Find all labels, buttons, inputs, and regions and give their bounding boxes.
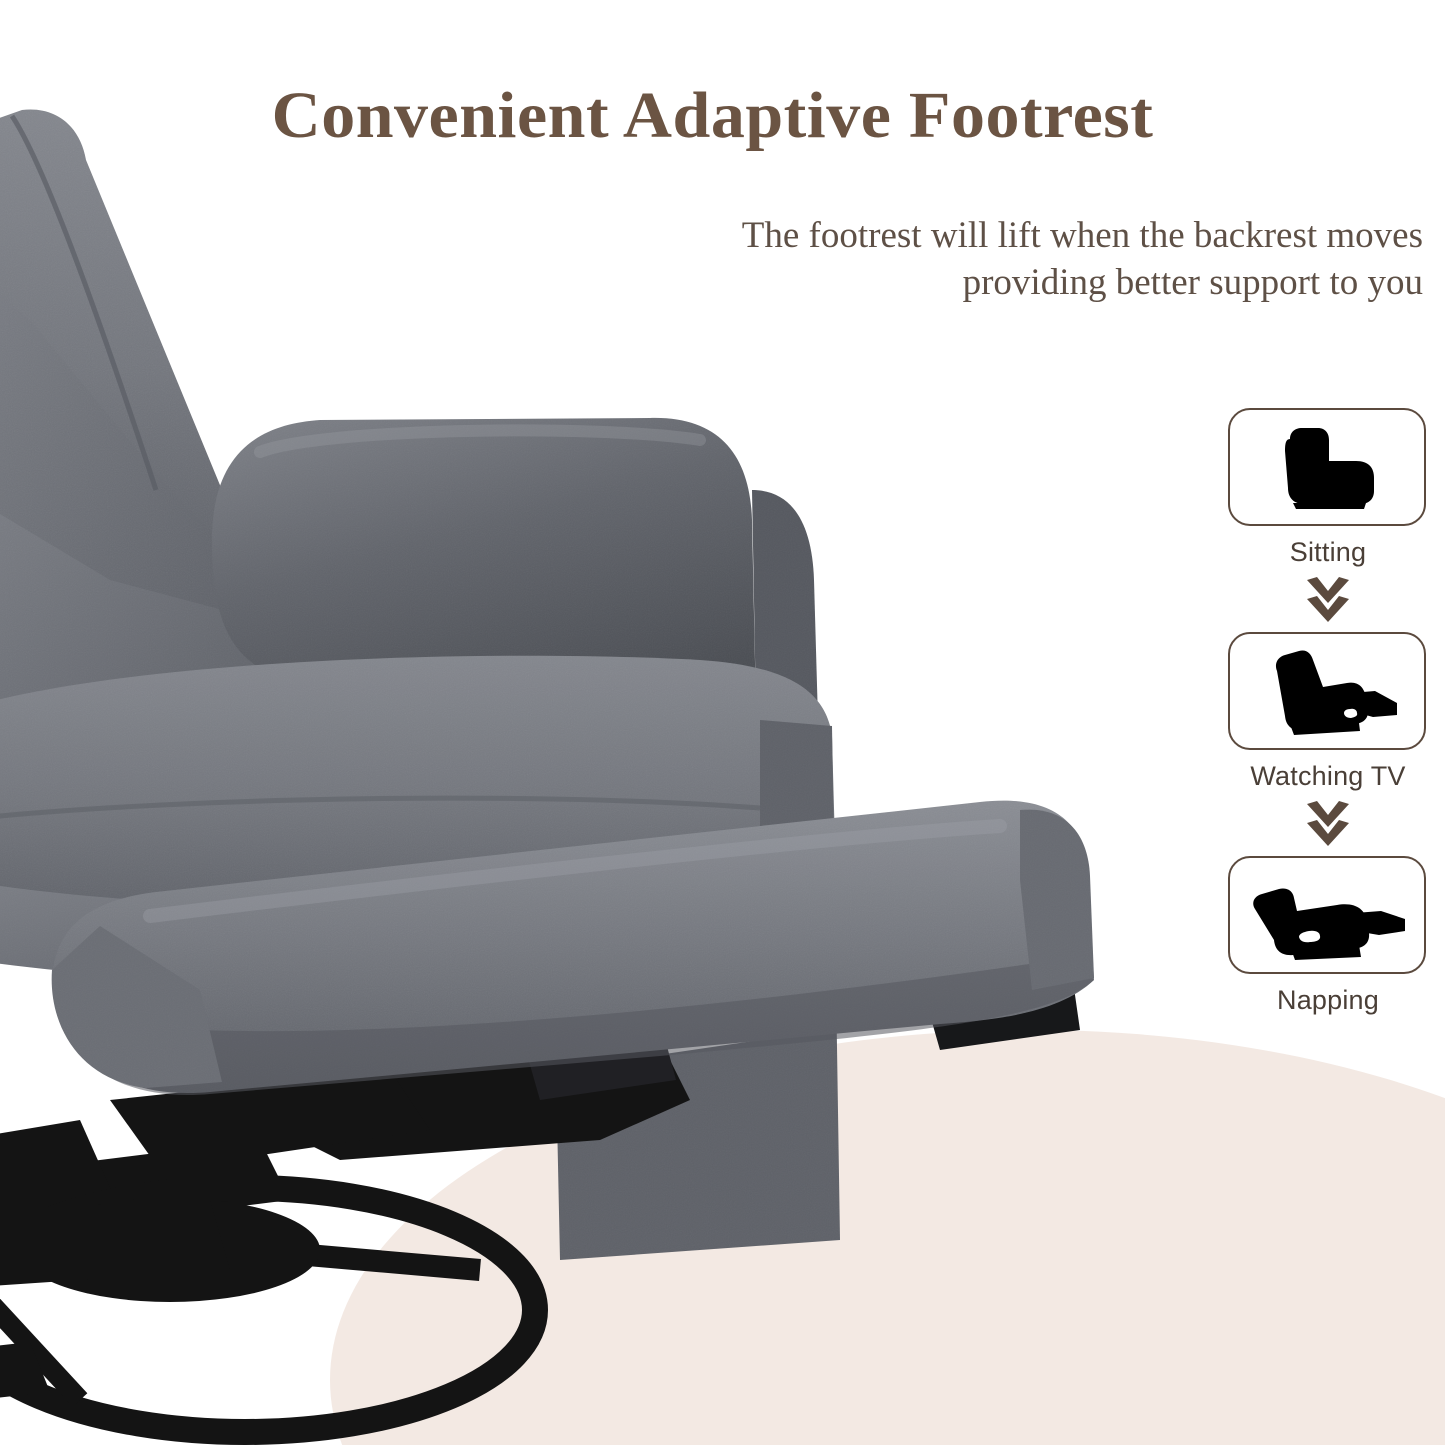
step-card-sitting (1228, 408, 1426, 526)
swivel-base-ring (0, 1188, 535, 1432)
subtitle-line-1: The footrest will lift when the backrest… (503, 212, 1423, 259)
recliner-position-steps: Sitting Watching TV (1228, 408, 1428, 1016)
double-chevron-down-icon-1 (1228, 577, 1428, 623)
recliner-upright-icon (1252, 417, 1402, 517)
step-label-napping: Napping (1228, 985, 1428, 1016)
recliner-flat-recline-icon (1245, 865, 1410, 965)
step-card-napping (1228, 856, 1426, 974)
step-label-watching-tv: Watching TV (1228, 761, 1428, 792)
step-label-sitting: Sitting (1228, 537, 1428, 568)
page-title: Convenient Adaptive Footrest (0, 78, 1445, 154)
step-card-watching-tv (1228, 632, 1426, 750)
product-feature-image: Convenient Adaptive Footrest The footres… (0, 0, 1445, 1445)
recliner-partial-recline-icon (1247, 641, 1407, 741)
double-chevron-down-icon-2 (1228, 801, 1428, 847)
page-subtitle: The footrest will lift when the backrest… (503, 212, 1423, 306)
subtitle-line-2: providing better support to you (503, 259, 1423, 306)
